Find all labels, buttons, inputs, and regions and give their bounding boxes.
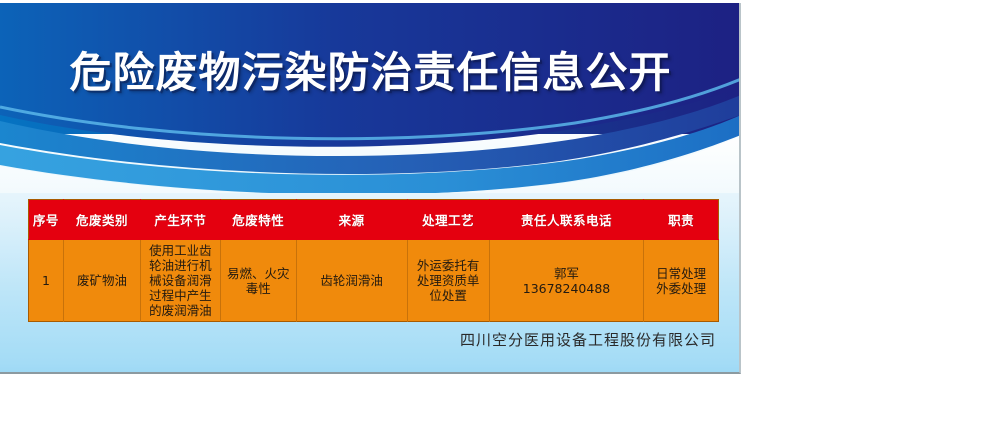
hazardous-waste-table-wrapper: 序号 危废类别 产生环节 危废特性 来源 处理工艺 责任人联系电话 职责 1 废…	[28, 199, 719, 322]
contact-name: 郭军	[494, 266, 639, 281]
cell-generation-stage: 使用工业齿轮油进行机械设备润滑过程中产生的废润滑油	[141, 240, 221, 322]
column-header-category: 危废类别	[63, 200, 140, 240]
cell-source: 齿轮润滑油	[296, 240, 407, 322]
decorative-wave-graphic	[0, 3, 741, 193]
hazardous-waste-table: 序号 危废类别 产生环节 危废特性 来源 处理工艺 责任人联系电话 职责 1 废…	[28, 199, 719, 322]
cell-treatment-process: 外运委托有处理资质单位处置	[407, 240, 489, 322]
cell-category: 废矿物油	[63, 240, 140, 322]
company-name: 四川空分医用设备工程股份有限公司	[0, 329, 716, 350]
column-header-source: 来源	[296, 200, 407, 240]
column-header-index: 序号	[29, 200, 64, 240]
column-header-treatment: 处理工艺	[407, 200, 489, 240]
cell-contact: 郭军 13678240488	[489, 240, 643, 322]
poster-container: 危险废物污染防治责任信息公开 序号 危废类别 产生环节 危废特性 来源	[0, 3, 741, 374]
table-header-row: 序号 危废类别 产生环节 危废特性 来源 处理工艺 责任人联系电话 职责	[29, 200, 719, 240]
column-header-stage: 产生环节	[141, 200, 221, 240]
table-row: 1 废矿物油 使用工业齿轮油进行机械设备润滑过程中产生的废润滑油 易燃、火灾毒性…	[29, 240, 719, 322]
column-header-contact: 责任人联系电话	[489, 200, 643, 240]
cell-index: 1	[29, 240, 64, 322]
duty-line-1: 日常处理	[648, 266, 714, 281]
column-header-property: 危废特性	[220, 200, 296, 240]
column-header-duty: 职责	[644, 200, 719, 240]
cell-duty: 日常处理 外委处理	[644, 240, 719, 322]
page-title: 危险废物污染防治责任信息公开	[0, 49, 741, 97]
contact-phone: 13678240488	[494, 281, 639, 296]
cell-hazard-property: 易燃、火灾毒性	[220, 240, 296, 322]
duty-line-2: 外委处理	[648, 281, 714, 296]
